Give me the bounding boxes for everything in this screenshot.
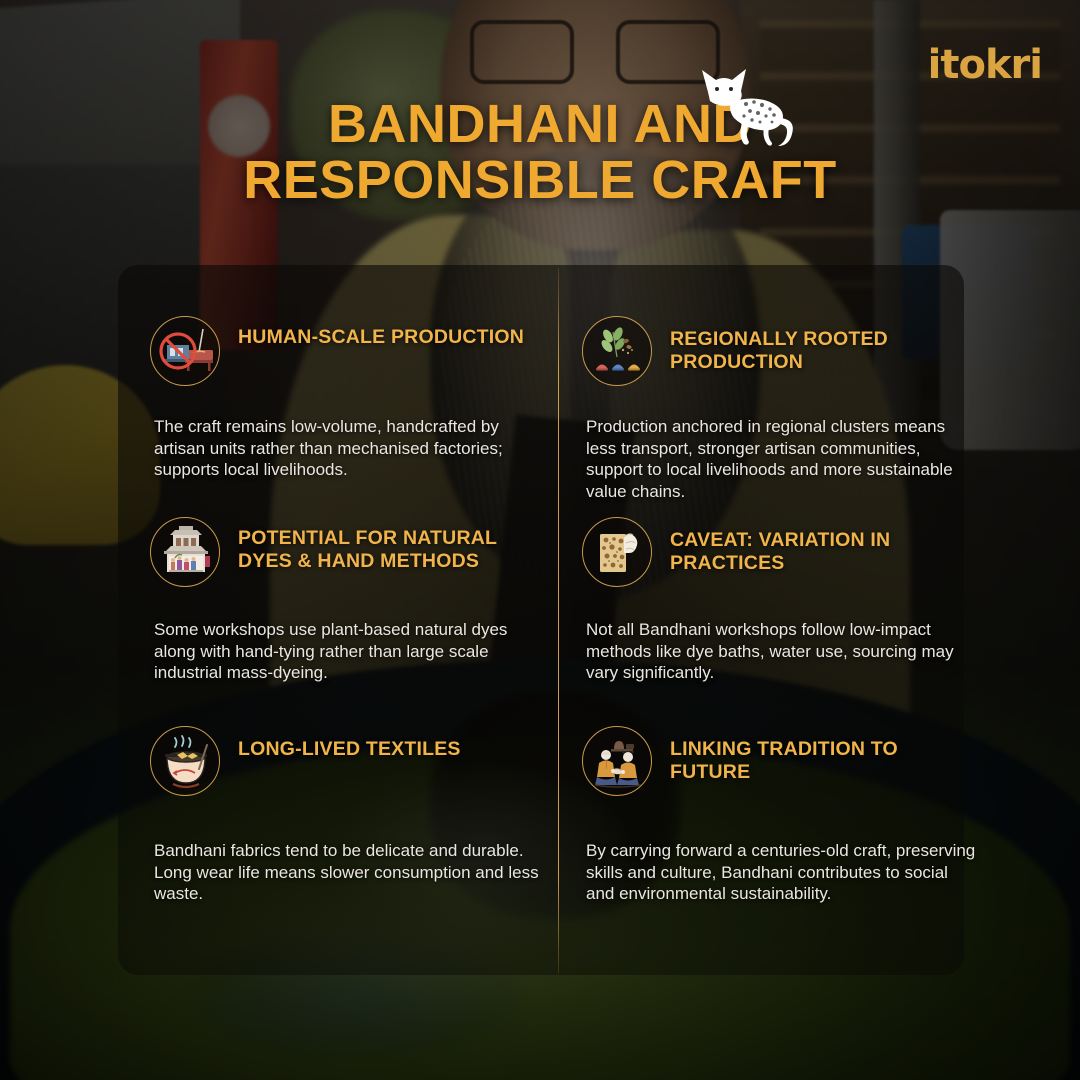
benefit-card-body: Not all Bandhani workshops follow low-im… (586, 619, 978, 684)
benefit-card: REGIONALLY ROOTED PRODUCTION Production … (582, 316, 982, 502)
benefit-card-body: By carrying forward a centuries-old craf… (586, 840, 978, 905)
benefit-card-grid: HUMAN-SCALE PRODUCTION The craft remains… (0, 0, 1080, 1080)
benefit-card: LONG-LIVED TEXTILES Bandhani fabrics ten… (150, 726, 550, 905)
benefit-card: HUMAN-SCALE PRODUCTION The craft remains… (150, 316, 550, 481)
benefit-card-header: LONG-LIVED TEXTILES (150, 726, 550, 796)
benefit-card-body: Some workshops use plant-based natural d… (154, 619, 546, 684)
benefit-card-title: LONG-LIVED TEXTILES (238, 726, 461, 761)
benefit-card: LINKING TRADITION TO FUTURE By carrying … (582, 726, 982, 905)
itokri-logo[interactable]: itokri (928, 42, 1042, 88)
hand-holding-patterned-fabric-icon (582, 517, 652, 587)
benefit-card-header: CAVEAT: VARIATION IN PRACTICES (582, 517, 982, 587)
benefit-card-body: The craft remains low-volume, handcrafte… (154, 416, 546, 481)
benefit-card-title: POTENTIAL FOR NATURAL DYES & HAND METHOD… (238, 517, 550, 573)
workshop-building-icon (150, 517, 220, 587)
sprout-dye-powders-icon (582, 316, 652, 386)
benefit-card-title: REGIONALLY ROOTED PRODUCTION (670, 316, 982, 374)
benefit-card-title: CAVEAT: VARIATION IN PRACTICES (670, 517, 982, 575)
benefit-card-header: HUMAN-SCALE PRODUCTION (150, 316, 550, 386)
benefit-card-header: LINKING TRADITION TO FUTURE (582, 726, 982, 796)
two-artisans-icon (582, 726, 652, 796)
benefit-card-title: HUMAN-SCALE PRODUCTION (238, 316, 524, 349)
benefit-card-body: Bandhani fabrics tend to be delicate and… (154, 840, 546, 905)
benefit-card-header: REGIONALLY ROOTED PRODUCTION (582, 316, 982, 386)
infographic-canvas: itokri BANDHANI AND (0, 0, 1080, 1080)
benefit-card-header: POTENTIAL FOR NATURAL DYES & HAND METHOD… (150, 517, 550, 587)
benefit-card: CAVEAT: VARIATION IN PRACTICES Not all B… (582, 517, 982, 684)
benefit-card-body: Production anchored in regional clusters… (586, 416, 978, 502)
benefit-card: POTENTIAL FOR NATURAL DYES & HAND METHOD… (150, 517, 550, 684)
steaming-dye-pot-icon (150, 726, 220, 796)
no-factory-icon (150, 316, 220, 386)
cat-icon (686, 58, 796, 155)
benefit-card-title: LINKING TRADITION TO FUTURE (670, 726, 982, 784)
